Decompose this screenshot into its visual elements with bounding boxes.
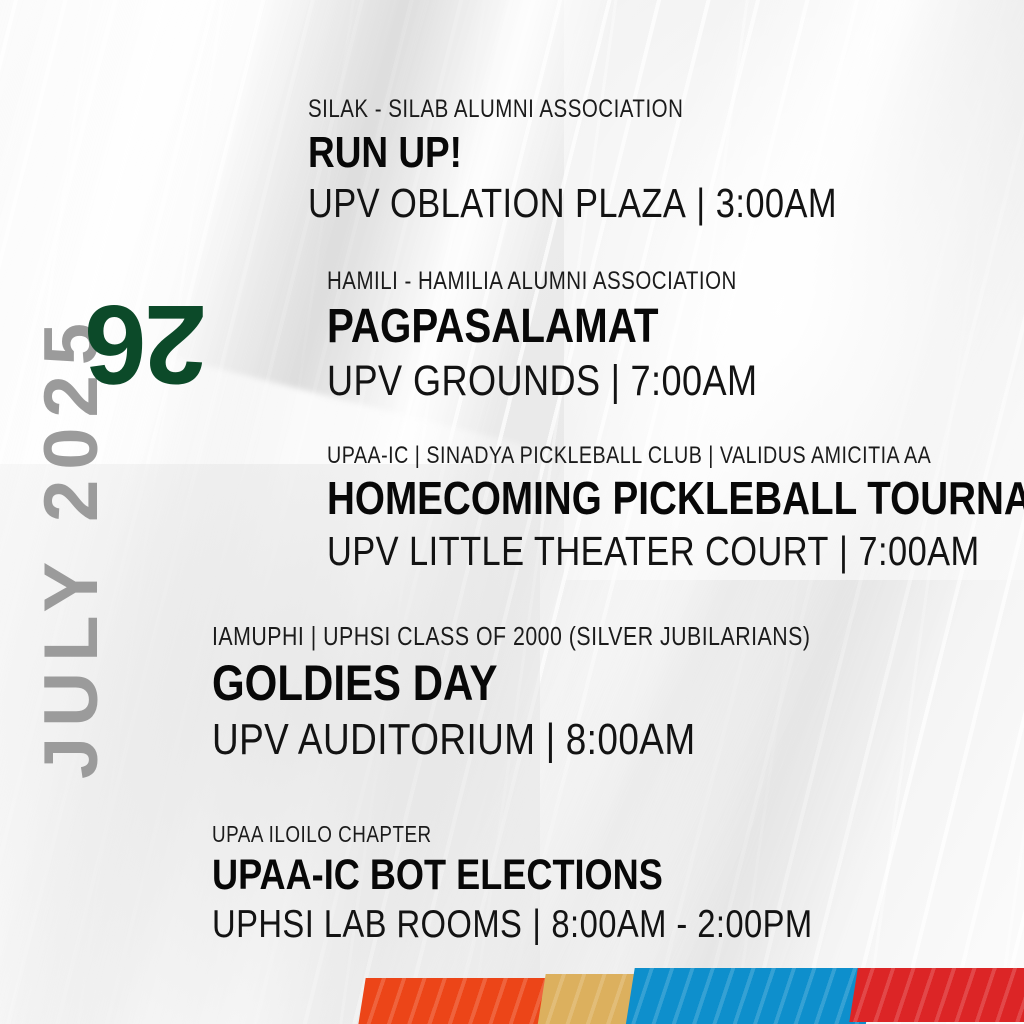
- event-organizer: UPAA-IC | SINADYA PICKLEBALL CLUB | VALI…: [327, 443, 1024, 469]
- event-venue-time: UPV GROUNDS|7:00AM: [327, 357, 758, 405]
- event-time: 8:00AM - 2:00PM: [551, 903, 812, 946]
- event-organizer: UPAA ILOILO CHAPTER: [212, 822, 798, 847]
- event-organizer: HAMILI - HAMILIA ALUMNI ASSOCIATION: [327, 268, 747, 296]
- event-item: SILAK - SILAB ALUMNI ASSOCIATION RUN UP!…: [308, 96, 938, 227]
- event-item: UPAA-IC | SINADYA PICKLEBALL CLUB | VALI…: [327, 443, 1024, 575]
- event-time: 8:00AM: [566, 715, 696, 764]
- event-venue: UPV AUDITORIUM: [212, 715, 536, 764]
- event-organizer: IAMUPHI | UPHSI CLASS OF 2000 (SILVER JU…: [212, 622, 810, 651]
- event-list: SILAK - SILAB ALUMNI ASSOCIATION RUN UP!…: [0, 0, 1024, 1024]
- event-time: 7:00AM: [858, 528, 979, 574]
- event-venue: UPV LITTLE THEATER COURT: [327, 528, 829, 574]
- event-item: HAMILI - HAMILIA ALUMNI ASSOCIATION PAGP…: [327, 268, 840, 405]
- event-time: 7:00AM: [631, 357, 758, 405]
- event-venue-time: UPV LITTLE THEATER COURT|7:00AM: [327, 529, 1024, 575]
- event-venue: UPHSI LAB ROOMS: [212, 903, 522, 946]
- event-separator: |: [601, 357, 631, 405]
- event-separator: |: [536, 715, 566, 764]
- event-venue-time: UPV AUDITORIUM|8:00AM: [212, 715, 825, 764]
- event-organizer: SILAK - SILAB ALUMNI ASSOCIATION: [308, 96, 824, 124]
- event-item: IAMUPHI | UPHSI CLASS OF 2000 (SILVER JU…: [212, 622, 942, 764]
- event-venue-time: UPV OBLATION PLAZA|3:00AM: [308, 181, 837, 227]
- event-venue-time: UPHSI LAB ROOMS|8:00AM - 2:00PM: [212, 903, 813, 947]
- event-title: HOMECOMING PICKLEBALL TOURNAMENT: [327, 473, 1024, 525]
- event-title: PAGPASALAMAT: [327, 300, 758, 354]
- event-item: UPAA ILOILO CHAPTER UPAA-IC BOT ELECTION…: [212, 822, 927, 947]
- event-title: GOLDIES DAY: [212, 655, 825, 711]
- event-venue: UPV GROUNDS: [327, 357, 601, 405]
- event-venue: UPV OBLATION PLAZA: [308, 180, 686, 226]
- event-schedule-poster: JULY 2025 26 SILAK - SILAB ALUMNI ASSOCI…: [0, 0, 1024, 1024]
- event-title: UPAA-IC BOT ELECTIONS: [212, 851, 813, 899]
- event-time: 3:00AM: [716, 180, 837, 226]
- event-separator: |: [829, 528, 859, 574]
- event-separator: |: [522, 903, 551, 946]
- event-title: RUN UP!: [308, 128, 837, 177]
- event-separator: |: [686, 180, 716, 226]
